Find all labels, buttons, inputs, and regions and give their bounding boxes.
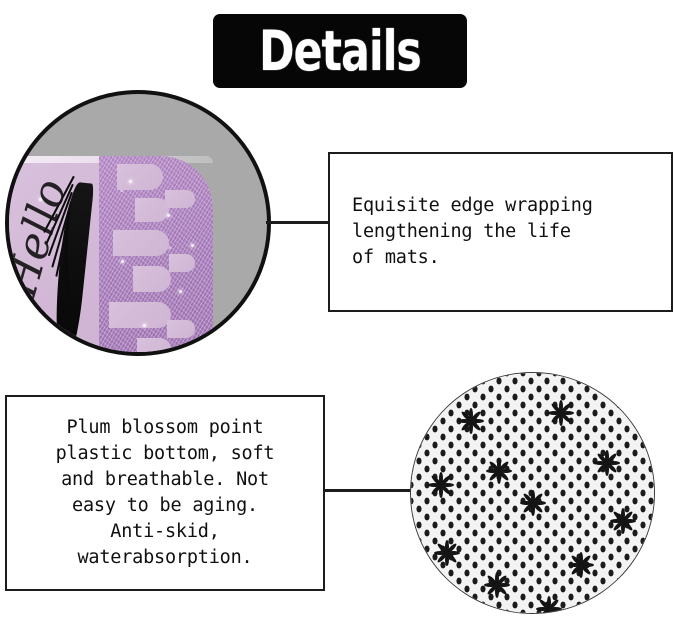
blossom-center (497, 469, 501, 473)
callout-edge-wrapping-text: Equisite edge wrapping lengthening the l… (352, 193, 665, 271)
blossom-center (469, 419, 473, 423)
plum-blossom-motif (564, 548, 598, 582)
blossom-center (579, 563, 583, 567)
connector-line-top (266, 221, 330, 224)
blossom-center (605, 461, 609, 465)
glitter-drip-notch (167, 320, 195, 338)
callout-edge-wrapping: Equisite edge wrapping lengthening the l… (328, 152, 673, 312)
photo-mat-edge-closeup: Hello (5, 90, 271, 356)
plum-blossom-motif (430, 536, 464, 570)
blossom-center (445, 551, 449, 555)
plum-blossom-motif (590, 446, 624, 480)
plum-blossom-motif (424, 468, 458, 502)
photo-anti-skid-backing (410, 372, 655, 614)
glitter-sparkle (199, 344, 202, 347)
blossom-center (621, 519, 625, 523)
plum-blossom-motif (480, 568, 514, 602)
blossom-center (439, 483, 443, 487)
connector-line-bottom (323, 489, 413, 492)
plum-blossom-motif (516, 486, 550, 520)
plum-blossom-motif (454, 404, 488, 438)
blossom-center (559, 411, 563, 415)
glitter-drip-notch (133, 266, 171, 292)
plum-blossom-motif (606, 504, 640, 538)
plum-blossom-motif (482, 454, 516, 488)
glitter-drip-notch (137, 338, 171, 356)
blossom-center (495, 583, 499, 587)
glitter-sparkle (179, 290, 182, 293)
blossom-center (547, 607, 551, 611)
glitter-sparkle (143, 324, 146, 327)
glitter-drip-notch (169, 254, 195, 272)
glitter-drip-notch (135, 198, 169, 222)
blossom-center (531, 501, 535, 505)
plum-blossom-motif (532, 592, 566, 614)
callout-plastic-bottom: Plum blossom point plastic bottom, soft … (5, 395, 325, 591)
callout-plastic-bottom-text: Plum blossom point plastic bottom, soft … (19, 415, 311, 571)
glitter-drip-notch (165, 190, 195, 208)
mat-scene: Hello (9, 94, 267, 352)
plum-blossom-motif (544, 396, 578, 430)
glitter-sparkle (167, 214, 170, 217)
product-detail-page: Details (0, 0, 679, 619)
glitter-sparkle (191, 244, 194, 247)
page-title: Details (259, 24, 421, 79)
details-title-banner: Details (213, 14, 467, 88)
